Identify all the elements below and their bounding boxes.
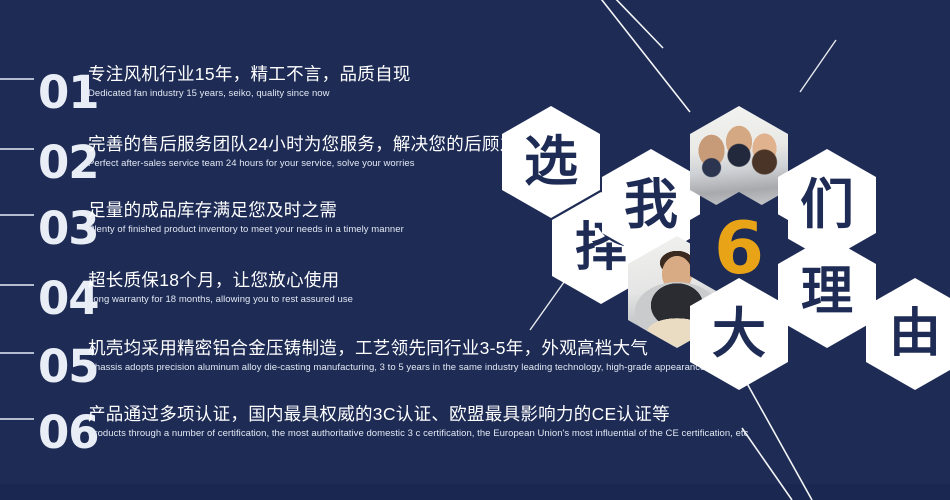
hex-glyph: 们 — [800, 178, 854, 232]
reason-text: 专注风机行业15年，精工不言，品质自现 Dedicated fan indust… — [88, 64, 411, 100]
reason-title-cn: 足量的成品库存满足您及时之需 — [88, 200, 404, 222]
reason-text: 足量的成品库存满足您及时之需 Plenty of finished produc… — [88, 200, 404, 236]
reason-title-en: Perfect after-sales service team 24 hour… — [88, 158, 535, 170]
banner-stage: 01 专注风机行业15年，精工不言，品质自现 Dedicated fan ind… — [0, 0, 950, 500]
hex-glyph: 理 — [801, 266, 853, 318]
reason-title-cn: 专注风机行业15年，精工不言，品质自现 — [88, 64, 411, 86]
reason-dash — [0, 418, 34, 420]
reason-dash — [0, 284, 34, 286]
reason-title-cn: 完善的售后服务团队24小时为您服务，解决您的后顾之忧 — [88, 134, 535, 156]
hex-glyph: 我 — [624, 178, 678, 232]
reason-title-en: Plenty of finished product inventory to … — [88, 224, 404, 236]
hex-glyph: 大 — [712, 307, 766, 361]
reason-text: 超长质保18个月，让您放心使用 Long warranty for 18 mon… — [88, 270, 353, 306]
reason-title-cn: 超长质保18个月，让您放心使用 — [88, 270, 353, 292]
reason-title-en: Dedicated fan industry 15 years, seiko, … — [88, 88, 411, 100]
reason-dash — [0, 78, 34, 80]
reason-dash — [0, 214, 34, 216]
reason-text: 完善的售后服务团队24小时为您服务，解决您的后顾之忧 Perfect after… — [88, 134, 535, 170]
hex-cell-li: 理 — [778, 236, 876, 348]
hex-glyph: 由 — [889, 308, 941, 360]
reason-title-en: Long warranty for 18 months, allowing yo… — [88, 294, 353, 306]
hex-cell-you: 由 — [866, 278, 950, 390]
reason-dash — [0, 352, 34, 354]
hex-glyph: 选 — [524, 135, 578, 189]
hex-glyph-six: 6 — [714, 212, 764, 284]
reason-dash — [0, 148, 34, 150]
hexagon-headline-cluster: 选 择 我 们 6 大 理 由 — [480, 0, 950, 500]
